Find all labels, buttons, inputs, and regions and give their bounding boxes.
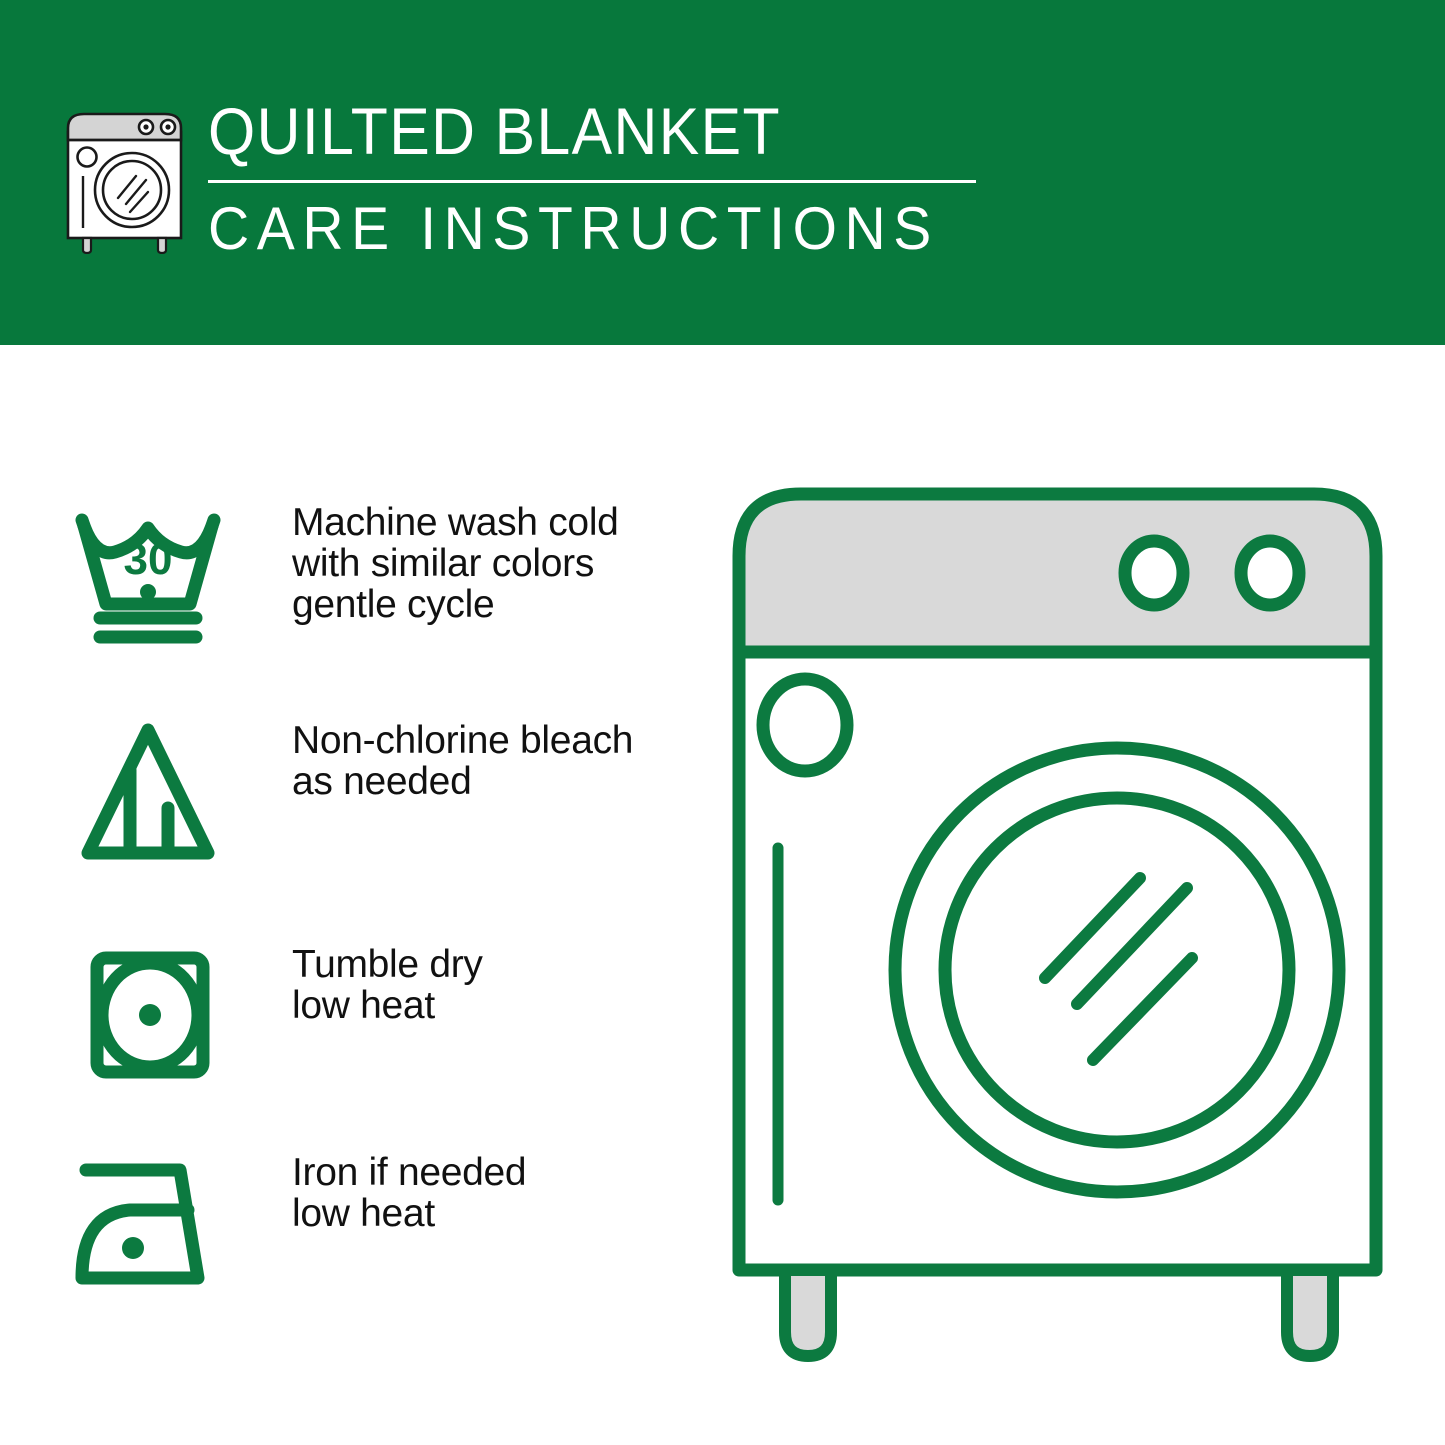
care-label-bleach: Non-chlorine bleach as needed	[292, 716, 633, 802]
care-label-line: Non-chlorine bleach	[292, 720, 633, 761]
iron-low-heat-icon	[70, 1148, 230, 1303]
care-label-line: with similar colors	[292, 543, 619, 584]
care-label-line: low heat	[292, 985, 483, 1026]
page-subtitle: CARE INSTRUCTIONS	[208, 197, 968, 261]
title-divider	[208, 180, 976, 183]
wash-temperature-value: 30	[124, 535, 173, 584]
control-knob	[1241, 541, 1299, 605]
tumble-dry-dot-icon	[139, 1004, 161, 1026]
care-label-wash: Machine wash cold with similar colors ge…	[292, 498, 619, 625]
header-banner: QUILTED BLANKET CARE INSTRUCTIONS	[0, 0, 1445, 345]
care-label-dry: Tumble dry low heat	[292, 940, 483, 1026]
care-row-dry: Tumble dry low heat	[70, 940, 690, 1095]
header-title-block: QUILTED BLANKET CARE INSTRUCTIONS	[208, 96, 1008, 261]
page-title: QUILTED BLANKET	[208, 96, 944, 166]
control-knob	[1125, 541, 1183, 605]
tumble-dry-low-icon	[70, 940, 230, 1095]
care-label-iron: Iron if needed low heat	[292, 1148, 526, 1234]
care-label-line: Machine wash cold	[292, 502, 619, 543]
washing-machine-icon	[62, 104, 187, 254]
care-label-line: low heat	[292, 1193, 526, 1234]
machine-leg	[785, 1270, 831, 1356]
care-row-wash: 30 Machine wash cold with similar colors…	[70, 498, 690, 653]
care-label-line: as needed	[292, 761, 633, 802]
wash-dot-icon	[140, 584, 156, 600]
care-label-line: Tumble dry	[292, 944, 483, 985]
machine-leg	[1287, 1270, 1333, 1356]
detergent-cap-icon	[763, 679, 847, 771]
care-instructions-page: QUILTED BLANKET CARE INSTRUCTIONS 30 Mac…	[0, 0, 1445, 1445]
care-label-line: gentle cycle	[292, 584, 619, 625]
iron-dot-icon	[122, 1237, 144, 1259]
washing-machine-illustration	[725, 480, 1390, 1370]
non-chlorine-bleach-triangle-icon	[70, 716, 230, 871]
care-label-line: Iron if needed	[292, 1152, 526, 1193]
care-row-bleach: Non-chlorine bleach as needed	[70, 716, 690, 871]
care-row-iron: Iron if needed low heat	[70, 1148, 690, 1303]
wash-tub-30-icon: 30	[70, 498, 230, 653]
